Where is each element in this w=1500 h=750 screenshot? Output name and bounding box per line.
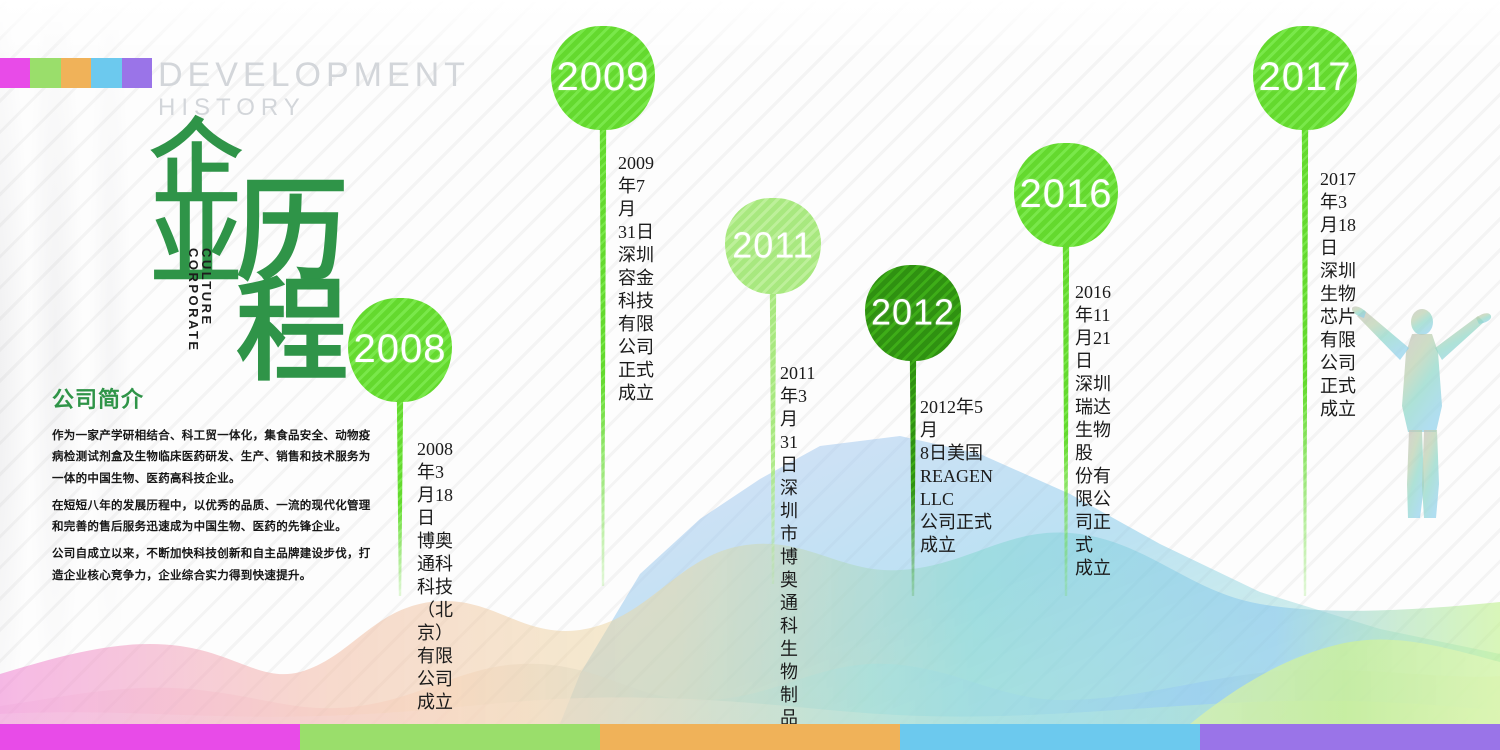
timeline-note-2008: 2008年3月18日 博奥通科科技 （北京）有限 公司成立 <box>417 438 453 714</box>
company-profile-block: 公司简介 作为一家产学研相结合、科工贸一体化，集食品安全、动物疫病检测试剂盒及生… <box>52 382 382 593</box>
profile-paragraph: 公司自成立以来，不断加快科技创新和自主品牌建设步伐，打造企业核心竞争力，企业综合… <box>52 544 382 587</box>
balloon-stem-2016 <box>1061 237 1071 596</box>
timeline-note-2012: 2012年5月 8日美国 REAGEN LLC 公司正式成立 <box>920 396 993 557</box>
balloon-bulb-2017[interactable]: 2017 <box>1253 26 1357 130</box>
balloon-year-label: 2008 <box>348 329 452 369</box>
chip-purple <box>122 58 152 88</box>
page-title-chinese: 企 业 历 程 <box>150 118 350 383</box>
balloon-bulb-2008[interactable]: 2008 <box>348 298 452 402</box>
chip-blue <box>900 724 1200 750</box>
timeline-note-2016: 2016年11月21日 深圳瑞达生物股 份有限公司正式 成立 <box>1075 281 1111 580</box>
eyebrow-development: DEVELOPMENT <box>158 56 470 95</box>
balloon-year-label: 2012 <box>865 294 961 330</box>
chip-magenta <box>0 58 30 88</box>
balloon-bulb-2009[interactable]: 2009 <box>551 26 655 130</box>
person-silhouette-icon <box>1352 296 1492 526</box>
chip-blue <box>91 58 121 88</box>
balloon-bulb-2012[interactable]: 2012 <box>865 265 961 361</box>
balloon-stem-2012 <box>908 351 918 596</box>
balloon-stem-2008 <box>395 392 405 596</box>
chip-orange <box>600 724 900 750</box>
poster-canvas: DEVELOPMENT HISTORY 企 业 历 程 CULTURE CORP… <box>0 0 1500 750</box>
balloon-year-label: 2011 <box>725 227 821 263</box>
chip-green <box>300 724 600 750</box>
chip-orange <box>61 58 91 88</box>
chip-magenta <box>0 724 300 750</box>
profile-paragraph: 在短短八年的发展历程中，以优秀的品质、一流的现代化管理和完善的售后服务迅速成为中… <box>52 496 382 539</box>
top-color-chip-bar <box>0 58 152 88</box>
profile-heading: 公司简介 <box>52 382 382 414</box>
chip-green <box>30 58 60 88</box>
balloon-year-label: 2016 <box>1014 174 1118 214</box>
balloon-stem-2011 <box>768 284 778 584</box>
vertical-label-culture: CULTURE <box>199 248 214 327</box>
balloon-stem-2009 <box>598 120 608 586</box>
balloon-year-label: 2009 <box>551 57 655 97</box>
wave-layer-blue <box>560 436 1500 724</box>
wave-layer-c <box>0 697 1500 724</box>
title-char-4: 程 <box>236 276 348 388</box>
profile-paragraph: 作为一家产学研相结合、科工贸一体化，集食品安全、动物疫病检测试剂盒及生物临床医药… <box>52 426 382 490</box>
vertical-label-corporate: CORPORATE <box>186 248 201 353</box>
wave-layer-b <box>0 664 1500 724</box>
wave-layer-hill <box>1190 639 1500 724</box>
timeline-note-2011: 2011年3月 31日深圳 市博奥通 科生物制 品有限公 司正式成立 <box>780 362 815 750</box>
bottom-color-chip-bar <box>0 724 1500 750</box>
timeline-note-2009: 2009年7月 31日深圳 容金科技 有限公司 正式成立 <box>618 152 654 405</box>
chip-purple <box>1200 724 1500 750</box>
balloon-stem-2017 <box>1300 120 1310 596</box>
balloon-bulb-2011[interactable]: 2011 <box>725 198 821 294</box>
balloon-year-label: 2017 <box>1253 57 1357 97</box>
timeline-note-2017: 2017年3月18日 深圳生物芯片 有限公司正式 成立 <box>1320 168 1356 421</box>
balloon-bulb-2016[interactable]: 2016 <box>1014 143 1118 247</box>
